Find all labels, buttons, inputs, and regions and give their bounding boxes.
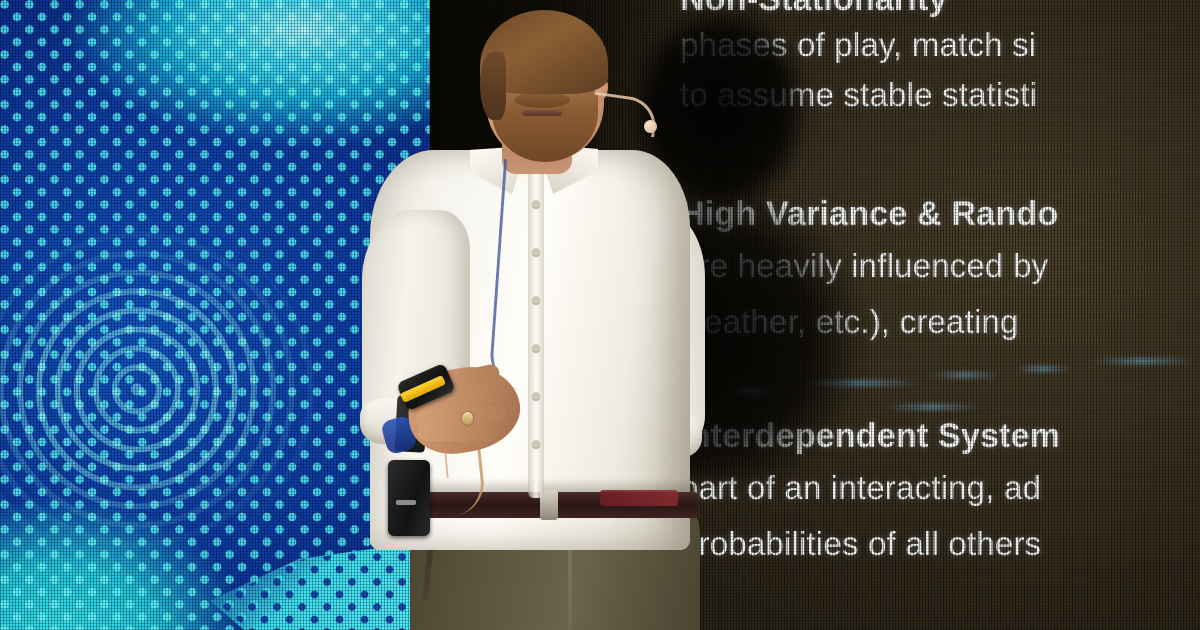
slide-heading-interdependent-systems: Interdependent System	[680, 412, 1200, 460]
moustache	[514, 92, 570, 108]
headset-microphone-capsule	[644, 120, 657, 133]
slide-block-high-variance: High Variance & Rando are heavily influe…	[680, 190, 1200, 350]
shirt-button	[532, 440, 540, 448]
speaker-figure	[300, 0, 750, 630]
slide-heading-non-stationarity: Non-Stationarity	[680, 0, 1200, 20]
ghost-text-glow	[930, 372, 1000, 378]
belt-pack-transmitter	[388, 460, 430, 536]
wedding-ring	[462, 412, 473, 425]
belt-accent-strip	[600, 490, 678, 506]
slide-body-line: weather, etc.), creating	[680, 294, 1200, 350]
shirt-button	[532, 344, 540, 352]
slide-body-line: to assume stable statisti	[680, 70, 1200, 120]
finger	[418, 425, 498, 441]
ghost-text-glow	[1015, 366, 1070, 372]
ghost-text-glow	[885, 404, 980, 410]
shirt-button	[532, 392, 540, 400]
belt-pack-indicator	[396, 500, 416, 505]
slide-body-line: probabilities of all others	[680, 516, 1200, 572]
mouth	[522, 110, 562, 116]
hair-sideburn	[480, 52, 506, 120]
slide-body-line: part of an interacting, ad	[680, 460, 1200, 516]
ghost-text-glow	[1090, 358, 1195, 364]
stage-photo: Non-Stationarity phases of play, match s…	[0, 0, 1200, 630]
slide-body-line: are heavily influenced by	[680, 238, 1200, 294]
shirt-button	[532, 296, 540, 304]
slide-body-line: phases of play, match si	[680, 20, 1200, 70]
slide-block-non-stationarity: Non-Stationarity phases of play, match s…	[680, 0, 1200, 120]
ghost-text-glow	[800, 380, 920, 386]
slide-block-interdependent-systems: Interdependent System part of an interac…	[680, 412, 1200, 572]
slide-heading-high-variance: High Variance & Rando	[680, 190, 1200, 238]
